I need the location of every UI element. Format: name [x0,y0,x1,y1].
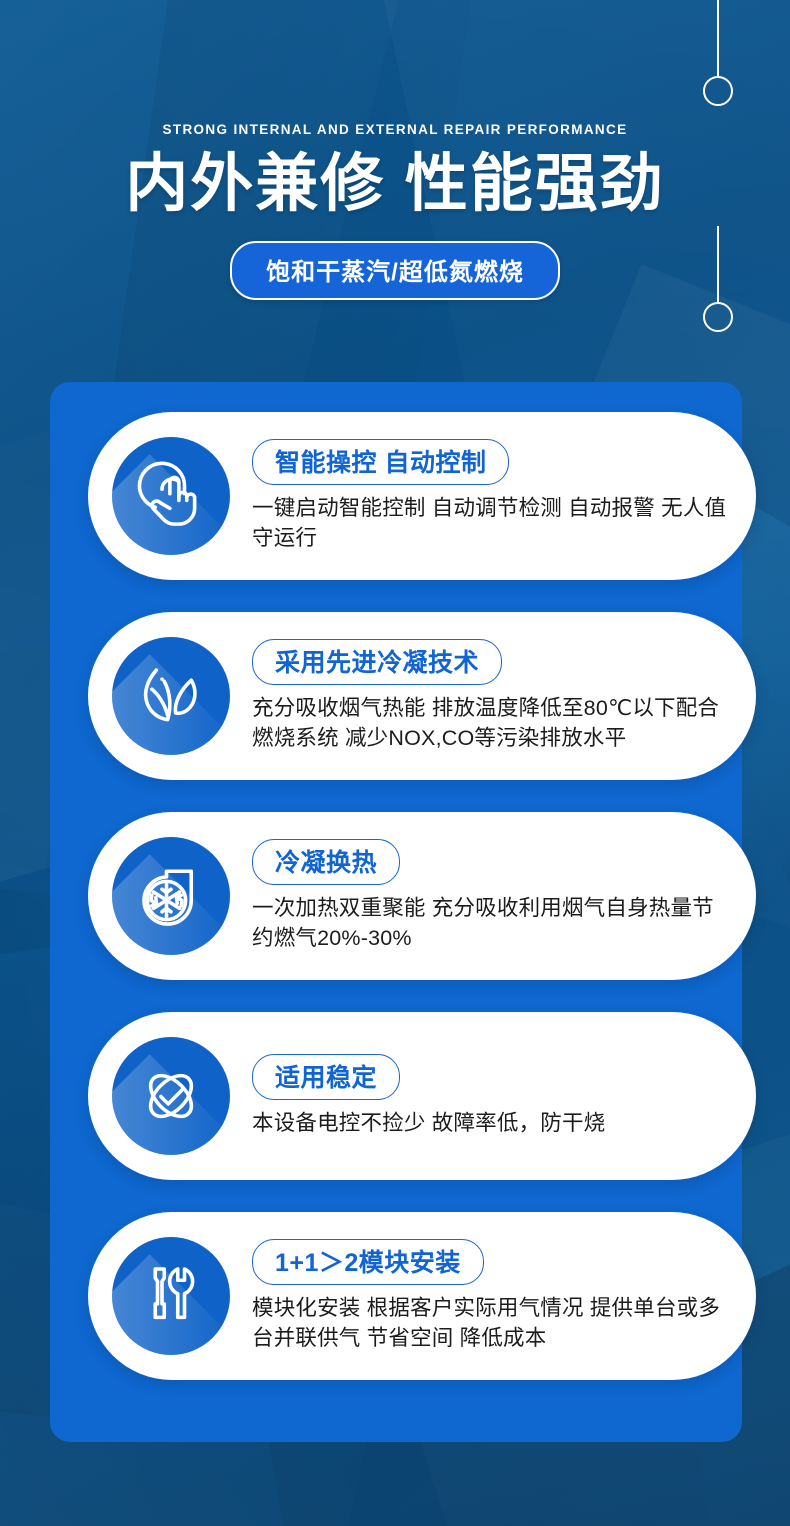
feature-card-body: 智能操控 自动控制 一键启动智能控制 自动调节检测 自动报警 无人值守运行 [230,439,756,553]
header: STRONG INTERNAL AND EXTERNAL REPAIR PERF… [0,0,790,300]
features-panel: 智能操控 自动控制 一键启动智能控制 自动调节检测 自动报警 无人值守运行 采用… [50,382,742,1442]
page-title: 内外兼修 性能强劲 [0,153,790,216]
leaf-icon [112,637,230,755]
marker-circle-icon [703,302,733,332]
snowflake-heat-exchanger-icon [112,837,230,955]
feature-card-desc: 模块化安装 根据客户实际用气情况 提供单台或多台并联供气 节省空间 降低成本 [252,1294,730,1353]
feature-card-desc: 本设备电控不捡少 故障率低，防干烧 [252,1109,730,1139]
feature-card-body: 采用先进冷凝技术 充分吸收烟气热能 排放温度降低至80℃以下配合燃烧系统 减少N… [230,639,756,753]
feature-card[interactable]: 冷凝换热 一次加热双重聚能 充分吸收利用烟气自身热量节约燃气20%-30% [88,812,756,980]
feature-card[interactable]: 智能操控 自动控制 一键启动智能控制 自动调节检测 自动报警 无人值守运行 [88,412,756,580]
feature-card-body: 1+1＞2模块安装 模块化安装 根据客户实际用气情况 提供单台或多台并联供气 节… [230,1239,756,1353]
feature-card-desc: 一次加热双重聚能 充分吸收利用烟气自身热量节约燃气20%-30% [252,894,730,953]
tools-icon [112,1237,230,1355]
feature-card-title: 冷凝换热 [252,839,400,885]
feature-card-title: 采用先进冷凝技术 [252,639,502,685]
feature-card[interactable]: 适用稳定 本设备电控不捡少 故障率低，防干烧 [88,1012,756,1180]
feature-card[interactable]: 采用先进冷凝技术 充分吸收烟气热能 排放温度降低至80℃以下配合燃烧系统 减少N… [88,612,756,780]
feature-card-desc: 充分吸收烟气热能 排放温度降低至80℃以下配合燃烧系统 减少NOX,CO等污染排… [252,694,730,753]
header-eyebrow: STRONG INTERNAL AND EXTERNAL REPAIR PERF… [0,122,790,137]
feature-card-body: 适用稳定 本设备电控不捡少 故障率低，防干烧 [230,1054,756,1139]
feature-card-title: 智能操控 自动控制 [252,439,509,485]
feature-card-title: 适用稳定 [252,1054,400,1100]
touch-control-icon [112,437,230,555]
promo-page: STRONG INTERNAL AND EXTERNAL REPAIR PERF… [0,0,790,1526]
header-sub-pill: 饱和干蒸汽/超低氮燃烧 [230,241,560,300]
feature-card-body: 冷凝换热 一次加热双重聚能 充分吸收利用烟气自身热量节约燃气20%-30% [230,839,756,953]
atom-check-icon [112,1037,230,1155]
feature-card-title: 1+1＞2模块安装 [252,1239,484,1285]
feature-card[interactable]: 1+1＞2模块安装 模块化安装 根据客户实际用气情况 提供单台或多台并联供气 节… [88,1212,756,1380]
feature-card-desc: 一键启动智能控制 自动调节检测 自动报警 无人值守运行 [252,494,730,553]
